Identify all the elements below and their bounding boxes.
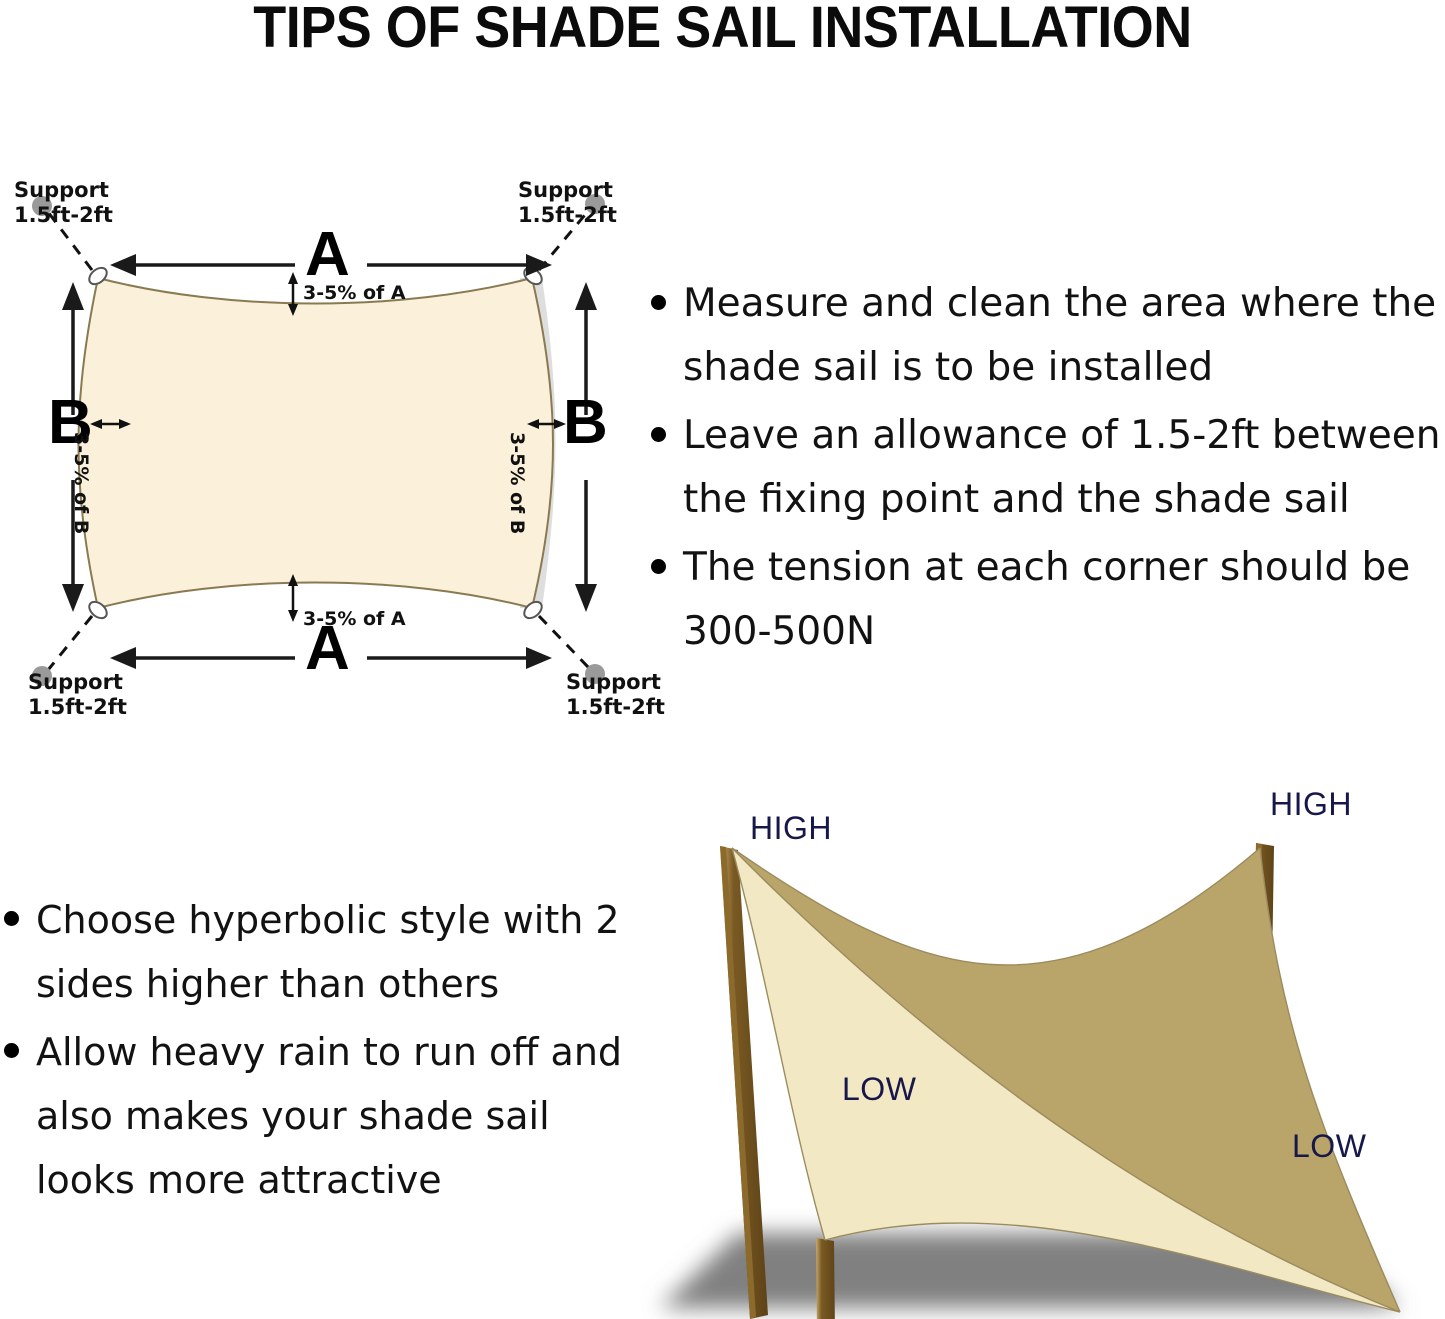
support-label-bottom-left: Support 1.5ft-2ft: [28, 670, 127, 720]
tip-text: The tension at each corner should be 300…: [683, 536, 1445, 664]
list-item: Measure and clean the area where the sha…: [651, 272, 1445, 400]
curve-label-top-a: 3-5% of A: [303, 282, 406, 304]
tip-text: Leave an allowance of 1.5-2ft between th…: [683, 404, 1445, 532]
arrowhead-left: [110, 254, 136, 276]
list-item: The tension at each corner should be 300…: [651, 536, 1445, 664]
hyperbolic-sail-diagram: HIGH HIGH LOW LOW: [620, 788, 1445, 1319]
support-line-1: Support: [28, 670, 123, 694]
support-line-1: Support: [566, 670, 661, 694]
label-high-left: HIGH: [750, 810, 832, 847]
curve-label-left-b: 3-5% of B: [70, 432, 92, 534]
post-low-left: [816, 1238, 836, 1319]
sail-body: [79, 278, 554, 608]
hyperbolic-sail-svg: [620, 788, 1445, 1319]
label-high-right: HIGH: [1270, 786, 1352, 823]
support-line-2: 1.5ft-2ft: [14, 203, 113, 227]
dimension-letter-a-top: A: [305, 224, 350, 286]
tip-text: Choose hyperbolic style with 2 sides hig…: [36, 888, 629, 1016]
support-line-2: 1.5ft-2ft: [28, 695, 127, 719]
bullet-dot-icon: [651, 295, 666, 310]
list-item: Leave an allowance of 1.5-2ft between th…: [651, 404, 1445, 532]
tip-text: Measure and clean the area where the sha…: [683, 272, 1445, 400]
dimension-letter-b-right: B: [563, 392, 608, 454]
support-line-1: Support: [518, 178, 613, 202]
curve-label-bottom-a: 3-5% of A: [303, 608, 406, 630]
bullet-dot-icon: [4, 1043, 19, 1058]
support-label-bottom-right: Support 1.5ft-2ft: [566, 670, 665, 720]
tips-list-right: Measure and clean the area where the sha…: [651, 272, 1445, 668]
tips-list-bottom: Choose hyperbolic style with 2 sides hig…: [4, 888, 629, 1216]
support-line-2: 1.5ft-2ft: [566, 695, 665, 719]
rectangular-sail-diagram: Support 1.5ft-2ft Support 1.5ft-2ft Supp…: [0, 170, 660, 730]
label-low-left: LOW: [842, 1071, 916, 1108]
list-item: Allow heavy rain to run off and also mak…: [4, 1020, 629, 1212]
support-label-top-right: Support 1.5ft-2ft: [518, 178, 617, 228]
list-item: Choose hyperbolic style with 2 sides hig…: [4, 888, 629, 1016]
bullet-dot-icon: [651, 559, 666, 574]
support-line-2: 1.5ft-2ft: [518, 203, 617, 227]
page-title: TIPS OF SHADE SAIL INSTALLATION: [51, 0, 1395, 61]
support-line-1: Support: [14, 178, 109, 202]
label-low-right: LOW: [1292, 1128, 1366, 1165]
curve-label-right-b: 3-5% of B: [506, 432, 528, 534]
bullet-dot-icon: [4, 911, 19, 926]
support-label-top-left: Support 1.5ft-2ft: [14, 178, 113, 228]
bullet-dot-icon: [651, 427, 666, 442]
tip-text: Allow heavy rain to run off and also mak…: [36, 1020, 629, 1212]
